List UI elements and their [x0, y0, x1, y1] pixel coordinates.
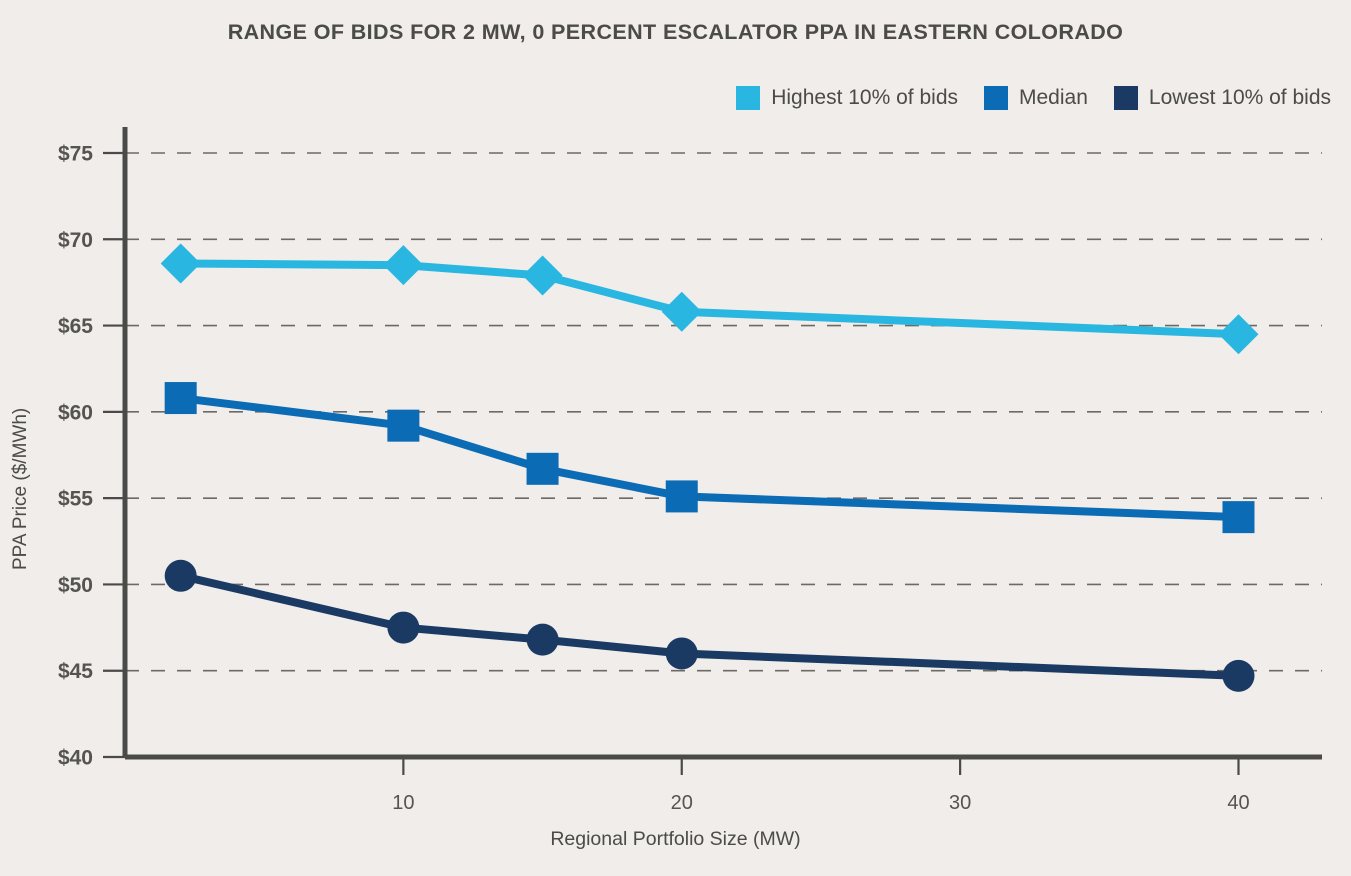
data-point[interactable] [1222, 660, 1254, 692]
y-tick-label: $50 [58, 574, 93, 597]
data-point[interactable] [387, 612, 419, 644]
y-tick-label: $65 [58, 315, 93, 338]
data-point[interactable] [666, 637, 698, 669]
y-tick-label: $70 [58, 229, 93, 252]
data-point[interactable] [387, 410, 419, 442]
data-point[interactable] [165, 382, 197, 414]
x-tick-label: 40 [1227, 792, 1249, 814]
plot-area: $40$45$50$55$60$65$70$7510203040 [0, 0, 1351, 876]
y-tick-label: $45 [58, 660, 93, 683]
data-point[interactable] [161, 243, 201, 283]
series-line-2 [181, 576, 1239, 676]
data-point[interactable] [1222, 501, 1254, 533]
data-point[interactable] [383, 245, 423, 285]
data-point[interactable] [527, 453, 559, 485]
data-point[interactable] [1218, 314, 1258, 354]
y-tick-label: $60 [58, 401, 93, 424]
x-tick-label: 10 [392, 792, 414, 814]
y-tick-label: $75 [58, 143, 93, 166]
y-tick-label: $55 [58, 488, 93, 511]
data-point[interactable] [662, 292, 702, 332]
series-line-1 [181, 398, 1239, 517]
data-point[interactable] [527, 624, 559, 656]
data-point[interactable] [523, 256, 563, 296]
data-point[interactable] [666, 480, 698, 512]
chart-container: RANGE OF BIDS FOR 2 MW, 0 PERCENT ESCALA… [0, 0, 1351, 876]
series-line-0 [181, 263, 1239, 334]
y-tick-label: $40 [58, 747, 93, 770]
x-tick-label: 20 [671, 792, 693, 814]
x-tick-label: 30 [949, 792, 971, 814]
data-point[interactable] [165, 560, 197, 592]
